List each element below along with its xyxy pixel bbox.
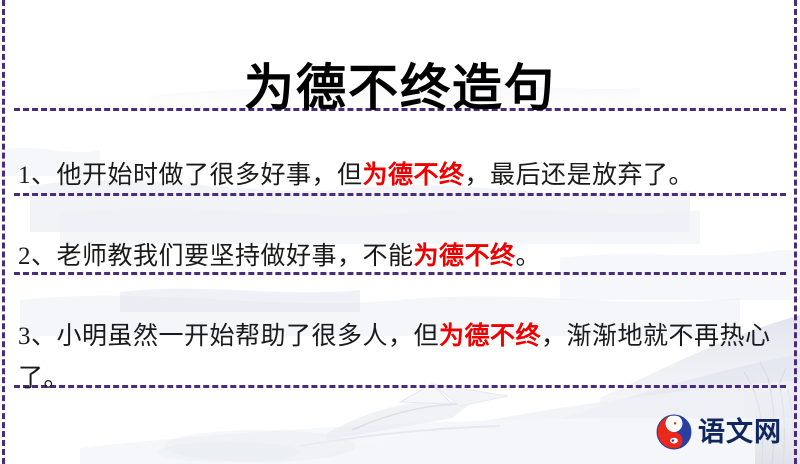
keyword-highlight-3: 为德不终 bbox=[439, 323, 541, 350]
sentence-text-before-3: 小明虽然一开始帮助了很多人，但 bbox=[57, 323, 440, 350]
sentence-number-2: 2、 bbox=[18, 243, 57, 270]
site-watermark-logo: 语文网 bbox=[656, 414, 782, 450]
sentence-number-3: 3、 bbox=[18, 323, 57, 350]
keyword-highlight-2: 为德不终 bbox=[414, 243, 516, 270]
sentence-number-1: 1、 bbox=[18, 162, 57, 189]
keyword-highlight-1: 为德不终 bbox=[363, 162, 465, 189]
page-title: 为德不终造句 bbox=[0, 58, 800, 118]
sentence-text-before-2: 老师教我们要坚持做好事，不能 bbox=[57, 243, 414, 270]
sentence-text-after-1: ，最后还是放弃了。 bbox=[465, 162, 695, 189]
sentence-item-3: 3、小明虽然一开始帮助了很多人，但为德不终，渐渐地就不再热心了。 bbox=[18, 316, 780, 400]
sentence-item-1: 1、他开始时做了很多好事，但为德不终，最后还是放弃了。 bbox=[18, 155, 780, 197]
sentence-item-2: 2、老师教我们要坚持做好事，不能为德不终。 bbox=[18, 236, 780, 278]
yinyang-logo-icon bbox=[656, 414, 692, 450]
sentence-text-before-1: 他开始时做了很多好事，但 bbox=[57, 162, 363, 189]
sentence-worksheet-page: 为德不终造句 1、他开始时做了很多好事，但为德不终，最后还是放弃了。 2、老师教… bbox=[0, 0, 800, 464]
sentence-text-after-2: 。 bbox=[516, 243, 542, 270]
site-watermark-text: 语文网 bbox=[698, 419, 782, 446]
